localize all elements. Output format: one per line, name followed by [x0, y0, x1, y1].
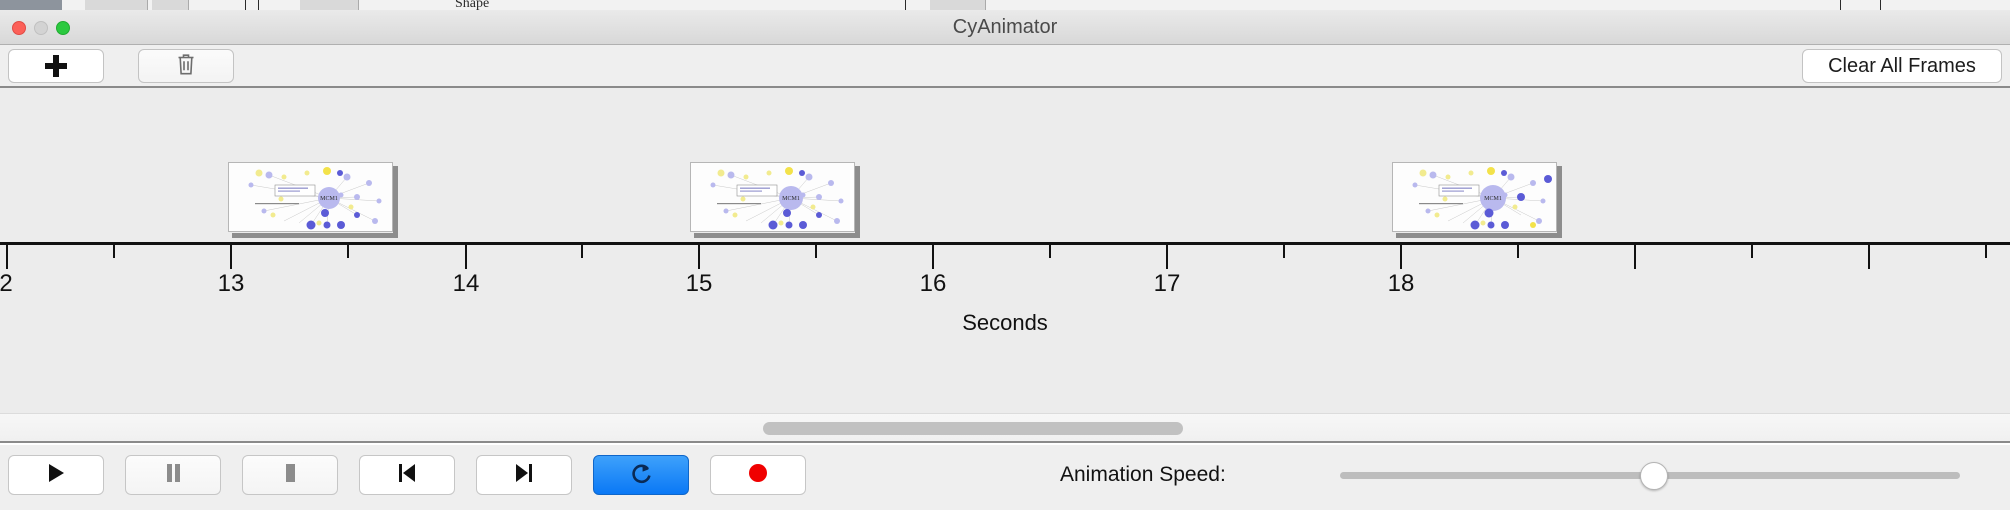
- pause-icon: [165, 463, 181, 488]
- ruler-tick-major: [1634, 245, 1636, 269]
- timeline-ruler: 2 13 14 15 16 17 18 Seconds: [0, 88, 2010, 413]
- loop-icon: [630, 462, 652, 489]
- svg-text:MCM1: MCM1: [320, 196, 338, 202]
- play-button[interactable]: [8, 455, 104, 495]
- clear-all-frames-button[interactable]: Clear All Frames: [1802, 49, 2002, 83]
- background-chip: [300, 0, 359, 10]
- ruler-tick-major: [1868, 245, 1870, 269]
- ruler-axis-title: Seconds: [0, 310, 2010, 336]
- animation-speed-label: Animation Speed:: [1060, 455, 1226, 495]
- trash-icon: [176, 52, 196, 81]
- pause-button[interactable]: [125, 455, 221, 495]
- frame-shadow: [694, 233, 860, 238]
- svg-text:MCM1: MCM1: [782, 196, 800, 202]
- ruler-tick-minor: [815, 245, 817, 258]
- frame-thumbnail: MCM1: [690, 162, 855, 232]
- ruler-label: 17: [1154, 270, 1181, 298]
- timeline-frame-2[interactable]: MCM1: [690, 162, 860, 238]
- frame-shadow: [1396, 233, 1562, 238]
- frame-shadow: [393, 166, 398, 238]
- ruler-tick-minor: [1751, 245, 1753, 258]
- ruler-label: 14: [453, 270, 480, 298]
- background-chip: [152, 0, 189, 10]
- ruler-tick-minor: [1283, 245, 1285, 258]
- record-icon: [747, 462, 769, 489]
- ruler-tick-minor: [347, 245, 349, 258]
- background-chip: [930, 0, 986, 10]
- skip-end-icon: [514, 463, 534, 488]
- ruler-tick-major: [465, 245, 467, 269]
- delete-frame-button[interactable]: [138, 49, 234, 83]
- svg-text:MCM1: MCM1: [1484, 196, 1502, 202]
- ruler-axis: [0, 242, 2010, 245]
- add-frame-button[interactable]: [8, 49, 104, 83]
- cyanimator-window: Shape CyAnimator Clear All Frames: [0, 0, 2010, 510]
- scrollbar-thumb[interactable]: [763, 422, 1183, 435]
- window-title: CyAnimator: [0, 10, 2010, 45]
- background-chip: [85, 0, 148, 10]
- skip-start-icon: [397, 463, 417, 488]
- ruler-tick-minor: [113, 245, 115, 258]
- timeline-frame-3[interactable]: MCM1: [1392, 162, 1562, 238]
- timeline-frame-1[interactable]: MCM1: [228, 162, 398, 238]
- ruler-tick-major: [1166, 245, 1168, 269]
- play-icon: [47, 463, 65, 488]
- ruler-tick-minor: [1985, 245, 1987, 258]
- animation-speed-knob[interactable]: [1640, 462, 1668, 490]
- stop-icon: [282, 463, 298, 488]
- ruler-tick-major: [932, 245, 934, 269]
- record-button[interactable]: [710, 455, 806, 495]
- background-tick: [905, 0, 906, 10]
- ruler-label: 13: [218, 270, 245, 298]
- background-tick: [245, 0, 246, 10]
- ruler-label: 16: [920, 270, 947, 298]
- network-graph-icon: MCM1: [229, 163, 393, 232]
- ruler-tick-major: [1400, 245, 1402, 269]
- ruler-tick-major: [698, 245, 700, 269]
- timeline-panel[interactable]: MCM1: [0, 88, 2010, 413]
- ruler-label: 18: [1388, 270, 1415, 298]
- background-tick: [258, 0, 259, 10]
- stop-button[interactable]: [242, 455, 338, 495]
- timeline-scrollbar[interactable]: [0, 413, 2010, 443]
- network-graph-icon: MCM1: [1393, 163, 1557, 232]
- background-window-tab: [0, 0, 62, 10]
- network-graph-icon: MCM1: [691, 163, 855, 232]
- frame-shadow: [232, 233, 398, 238]
- loop-button[interactable]: [593, 455, 689, 495]
- ruler-tick-minor: [581, 245, 583, 258]
- ruler-label: 2: [0, 270, 13, 298]
- ruler-label: 15: [686, 270, 713, 298]
- ruler-tick-major: [6, 245, 8, 269]
- ruler-tick-minor: [1049, 245, 1051, 258]
- background-tick: [1840, 0, 1841, 10]
- title-bar: CyAnimator: [0, 10, 2010, 45]
- frame-shadow: [1557, 166, 1562, 238]
- ruler-tick-minor: [1517, 245, 1519, 258]
- transport-bar: Animation Speed:: [0, 445, 2010, 510]
- frame-thumbnail: MCM1: [228, 162, 393, 232]
- skip-to-end-button[interactable]: [476, 455, 572, 495]
- background-tick: [1880, 0, 1881, 10]
- frame-shadow: [855, 166, 860, 238]
- ruler-tick-major: [230, 245, 232, 269]
- frame-toolbar: Clear All Frames: [0, 45, 2010, 88]
- plus-icon: [45, 55, 67, 77]
- skip-to-start-button[interactable]: [359, 455, 455, 495]
- frame-thumbnail: MCM1: [1392, 162, 1557, 232]
